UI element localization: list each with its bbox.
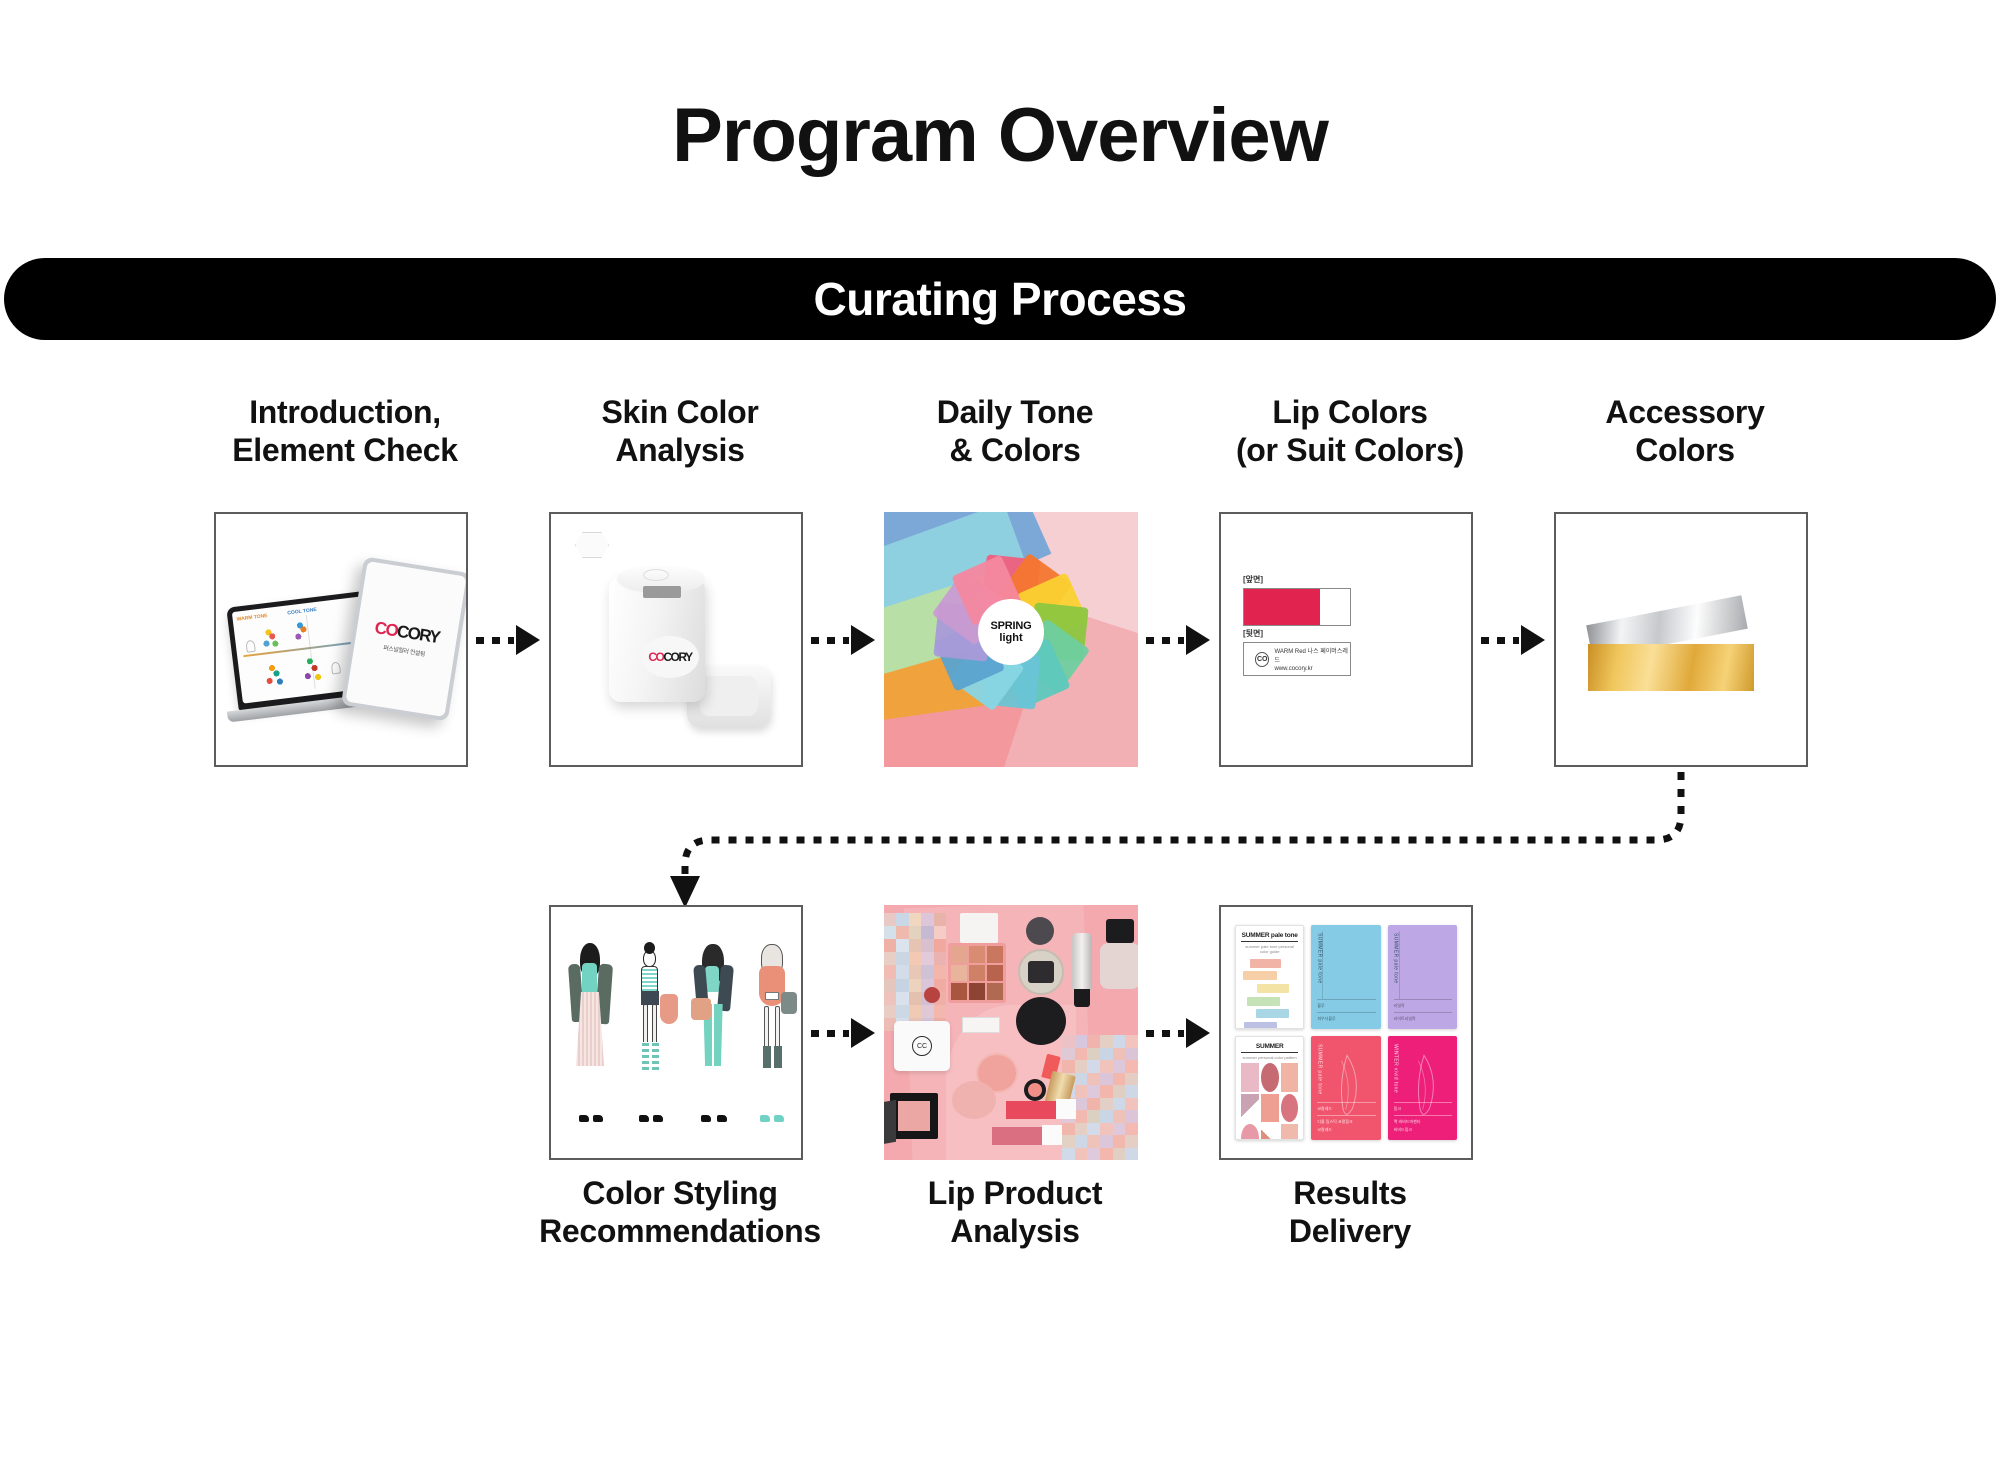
step-label-2: Skin Color Analysis	[510, 394, 850, 470]
device-dial	[643, 569, 669, 581]
device-logo: COCORY	[641, 636, 699, 678]
step-label-1: Introduction, Element Check	[175, 394, 515, 470]
card-website: www.cocory.kr	[1274, 666, 1350, 672]
thumbnail-lip-color-card: [앞면] [뒷면] CO WARM Red 나스 페이머스레드 www.coco…	[1219, 512, 1473, 767]
step-label-6: Color Styling Recommendations	[510, 1175, 850, 1251]
connector-arrow-2-3	[811, 628, 875, 652]
card-product-name: WARM Red 나스 페이머스레드	[1274, 646, 1350, 664]
step-label-4: Lip Colors (or Suit Colors)	[1180, 394, 1520, 470]
report-card: SUMMER pale tone 코랄레드 디올 립스틱 코랄핑크 코랄레드	[1311, 1036, 1380, 1140]
tone-label: light	[999, 632, 1022, 644]
connector-arrow-4-5	[1481, 628, 1545, 652]
step-label-3: Daily Tone & Colors	[845, 394, 1185, 470]
report-card-footer-2: 라이트라일락	[1394, 1016, 1452, 1022]
fashion-figure	[689, 946, 743, 1122]
step-label-8: Results Delivery	[1180, 1175, 1520, 1251]
report-card-footer-2: 맥 비비드마젠타	[1394, 1119, 1452, 1125]
device-display	[643, 586, 681, 598]
step-label-5: Accessory Colors	[1515, 394, 1855, 470]
report-card: SUMMER pale tone summer pale tone person…	[1235, 925, 1304, 1029]
card-front-tag: [앞면]	[1243, 574, 1263, 585]
fashion-figure	[567, 946, 619, 1122]
fashion-figure	[627, 946, 679, 1122]
report-card-footer-1: 핑크	[1394, 1106, 1452, 1112]
report-card-title: SUMMER pale tone	[1241, 932, 1298, 942]
connector-arrow-3-4	[1146, 628, 1210, 652]
curating-process-banner: Curating Process	[4, 258, 1996, 340]
report-card-footer-1: 블루	[1317, 1003, 1375, 1009]
slide-canvas: Program Overview Curating Process Introd…	[0, 0, 2000, 1470]
report-card: SUMMER pale tone 라일락 라이트라일락	[1388, 925, 1457, 1029]
connector-arrow-6-7	[811, 1021, 875, 1045]
thumbnail-skin-analysis-device: COCORY	[549, 512, 803, 767]
report-card-subtitle: summer personal color pattern	[1241, 1055, 1298, 1060]
lip-color-card-back: CO WARM Red 나스 페이머스레드 www.cocory.kr	[1243, 642, 1351, 676]
thumbnail-color-drape-fan: SPRING light	[884, 512, 1138, 767]
thumbnail-result-report-cards: SUMMER pale tone summer pale tone person…	[1219, 905, 1473, 1160]
thumbnail-laptop-tablet-mockup: WARM TONE COOL TONE	[214, 512, 468, 767]
report-card-footer-2: 디올 립스틱 코랄핑크	[1317, 1119, 1375, 1125]
report-card-footer-1: 라일락	[1394, 1003, 1452, 1009]
cocory-mark-icon: CO	[1255, 652, 1269, 667]
report-card-footer-1: 코랄레드	[1317, 1106, 1375, 1112]
season-label: SPRING	[991, 620, 1032, 632]
lip-color-card-front	[1243, 588, 1351, 626]
chart-heading-cool: COOL TONE	[287, 607, 317, 617]
chart-heading-warm: WARM TONE	[236, 613, 268, 623]
thumbnail-metal-accessory-strips	[1554, 512, 1808, 767]
report-card-title: SUMMER	[1241, 1043, 1298, 1053]
thumbnail-fashion-figure-illustrations	[549, 905, 803, 1160]
report-card-subtitle: summer pale tone personal color guide	[1241, 944, 1298, 954]
report-card-footer-3: 비비드핑크	[1394, 1127, 1452, 1133]
report-card: SUMMER pale tone 블루 파우더블루	[1311, 925, 1380, 1029]
tablet-illustration: COCORY 퍼스널컬러 컨설팅	[341, 556, 468, 721]
card-back-tag: [뒷면]	[1243, 628, 1263, 639]
step-label-7: Lip Product Analysis	[845, 1175, 1185, 1251]
report-card-footer-2: 파우더블루	[1317, 1016, 1375, 1022]
report-card-footer-3: 코랄레드	[1317, 1127, 1375, 1133]
connector-arrow-7-8	[1146, 1021, 1210, 1045]
banner-label: Curating Process	[814, 272, 1187, 326]
connector-arrow-1-2	[476, 628, 540, 652]
report-card: WINTER vivid tone 핑크 맥 비비드마젠타 비비드핑크	[1388, 1036, 1457, 1140]
gold-strip	[1588, 644, 1754, 691]
thumbnail-cosmetics-flatlay-photo: CC	[884, 905, 1138, 1160]
fashion-figure	[749, 946, 799, 1122]
page-title: Program Overview	[0, 96, 2000, 176]
report-card: SUMMER summer personal color pattern	[1235, 1036, 1304, 1140]
season-tone-badge: SPRING light	[978, 599, 1044, 665]
